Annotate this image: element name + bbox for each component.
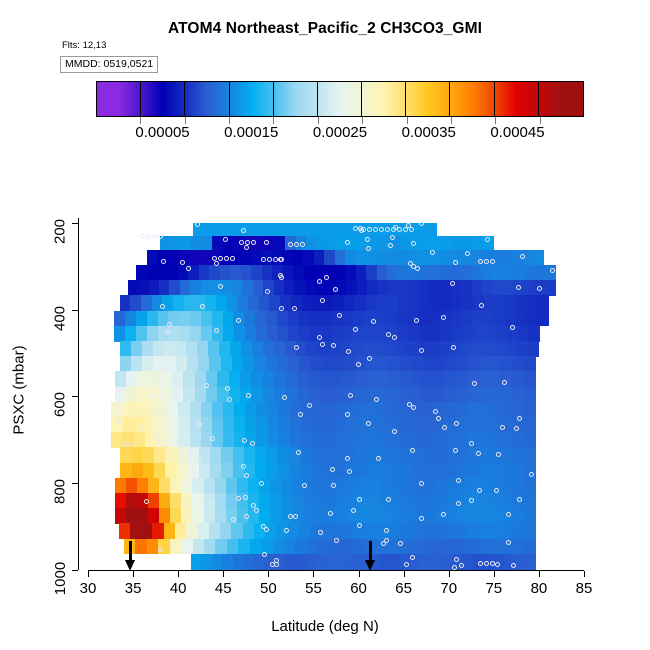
observation-point <box>433 409 438 414</box>
colorbar-tick-label: 0.00035 <box>402 124 456 141</box>
observation-point <box>300 242 305 247</box>
observation-point <box>398 541 403 546</box>
colorbar-tick-label: 0.00015 <box>224 124 278 141</box>
observation-point <box>451 345 456 350</box>
observation-point <box>346 349 351 354</box>
observation-point <box>469 498 474 503</box>
x-axis-tick-label: 55 <box>305 580 322 597</box>
observation-point <box>239 240 244 245</box>
observation-point <box>511 563 516 568</box>
observation-point <box>131 442 136 447</box>
observation-point <box>236 496 241 501</box>
observation-point <box>124 442 129 447</box>
observation-point <box>453 448 458 453</box>
observation-point <box>414 318 419 323</box>
x-axis-tick-label: 40 <box>170 580 187 597</box>
colorbar-segment <box>539 82 583 116</box>
observation-point <box>242 438 247 443</box>
observation-point <box>374 397 379 402</box>
observation-point <box>490 561 495 566</box>
observation-point <box>391 227 396 232</box>
colorbar-segment <box>274 82 318 116</box>
observation-point <box>292 306 297 311</box>
observation-point <box>333 287 338 292</box>
observation-point <box>388 243 393 248</box>
observation-point <box>456 478 461 483</box>
observation-point <box>353 327 358 332</box>
observation-point <box>410 448 415 453</box>
colorbar-segment <box>185 82 229 116</box>
observation-point <box>476 451 481 456</box>
observation-point <box>218 256 223 261</box>
observation-point <box>244 473 249 478</box>
observation-point <box>516 285 521 290</box>
observation-point <box>345 456 350 461</box>
observation-point <box>210 436 215 441</box>
observation-point <box>454 421 459 426</box>
observation-point <box>411 241 416 246</box>
y-axis-tick-label: 400 <box>52 305 69 330</box>
observation-point <box>330 467 335 472</box>
colorbar-segment <box>406 82 450 116</box>
observation-point <box>367 356 372 361</box>
observation-point <box>197 457 202 462</box>
x-axis-tick-label: 65 <box>395 580 412 597</box>
y-axis-tick-label: 600 <box>52 392 69 417</box>
observation-point <box>331 483 336 488</box>
observation-point <box>273 257 278 262</box>
observation-point <box>385 227 390 232</box>
colorbar-gradient <box>96 81 584 117</box>
x-axis-tick-label: 30 <box>80 580 97 597</box>
observation-point <box>328 511 333 516</box>
observation-point <box>146 234 151 239</box>
observation-point <box>161 259 166 264</box>
colorbar-tick <box>362 117 363 124</box>
y-axis-tick-label: 200 <box>52 219 69 244</box>
observation-point <box>397 227 402 232</box>
observation-point <box>158 547 163 552</box>
observation-point <box>294 345 299 350</box>
colorbar-tick <box>318 117 319 124</box>
observation-point <box>345 240 350 245</box>
observation-point <box>441 315 446 320</box>
x-axis-tick-label: 60 <box>350 580 367 597</box>
observation-point <box>227 397 232 402</box>
observation-point <box>317 279 322 284</box>
x-axis-tick <box>494 571 495 577</box>
observation-point <box>517 497 522 502</box>
observation-point <box>236 318 241 323</box>
observation-point <box>450 281 455 286</box>
colorbar-segment <box>318 82 362 116</box>
x-axis-tick <box>313 571 314 577</box>
colorbar-tick <box>273 117 274 124</box>
observation-point <box>366 246 371 251</box>
observation-point <box>324 275 329 280</box>
observation-point <box>410 555 415 560</box>
observation-point <box>214 328 219 333</box>
colorbar-segment <box>362 82 406 116</box>
observation-point <box>284 528 289 533</box>
observation-point <box>550 268 555 273</box>
heatmap-plot-area <box>88 214 584 570</box>
observation-point <box>200 304 205 309</box>
page-title: ATOM4 Northeast_Pacific_2 CH3CO3_GMI <box>0 20 650 38</box>
observation-point <box>366 421 371 426</box>
observation-point <box>506 540 511 545</box>
observation-point <box>244 514 249 519</box>
observation-point <box>241 228 246 233</box>
y-axis-tick-label: 1000 <box>52 562 69 595</box>
x-axis-tick <box>88 571 89 577</box>
observation-point <box>371 319 376 324</box>
observation-point <box>357 497 362 502</box>
observation-point <box>392 429 397 434</box>
observation-point <box>317 335 322 340</box>
observation-point <box>293 514 298 519</box>
observation-point <box>150 394 155 399</box>
x-axis-tick <box>133 571 134 577</box>
observation-point <box>500 425 505 430</box>
observation-point <box>337 313 342 318</box>
y-axis-title-text: PSXC (mbar) <box>11 345 28 434</box>
x-axis-tick <box>539 571 540 577</box>
observation-point <box>195 222 200 227</box>
observation-point <box>430 250 435 255</box>
observation-point <box>357 523 362 528</box>
colorbar-segment <box>495 82 539 116</box>
observation-point <box>251 240 256 245</box>
observation-point <box>250 441 255 446</box>
observation-point <box>381 541 386 546</box>
observation-point <box>245 240 250 245</box>
observation-point <box>419 348 424 353</box>
observation-point <box>296 450 301 455</box>
observation-point <box>478 561 483 566</box>
x-axis-tick <box>449 571 450 577</box>
observation-point <box>223 237 228 242</box>
observation-point <box>197 422 202 427</box>
observation-point <box>144 499 149 504</box>
x-axis-title: Latitude (deg N) <box>0 618 650 635</box>
observation-points <box>88 214 584 570</box>
observation-point <box>484 259 489 264</box>
colorbar <box>96 81 584 117</box>
colorbar-tick <box>229 117 230 124</box>
x-axis-tick <box>404 571 405 577</box>
colorbar-tick <box>495 117 496 124</box>
x-axis-line <box>88 570 584 571</box>
x-axis-tick-label: 80 <box>531 580 548 597</box>
observation-point <box>320 342 325 347</box>
observation-point <box>244 245 249 250</box>
observation-point <box>267 257 272 262</box>
observation-point <box>494 488 499 493</box>
colorbar-segment <box>141 82 185 116</box>
observation-point <box>490 259 495 264</box>
observation-point <box>302 483 307 488</box>
observation-point <box>514 426 519 431</box>
observation-point <box>479 303 484 308</box>
observation-point <box>116 419 121 424</box>
observation-point <box>270 562 275 567</box>
observation-point <box>167 322 172 327</box>
observation-point <box>318 530 323 535</box>
observation-point <box>453 260 458 265</box>
colorbar-segment <box>97 82 141 116</box>
observation-point <box>243 495 248 500</box>
observation-point <box>254 508 259 513</box>
observation-point <box>153 434 158 439</box>
observation-point <box>173 394 178 399</box>
x-axis-tick <box>178 571 179 577</box>
x-axis-tick-label: 85 <box>576 580 593 597</box>
observation-point <box>307 403 312 408</box>
colorbar-tick <box>540 117 541 124</box>
latitude-arrow-marker <box>125 541 136 571</box>
observation-point <box>496 452 501 457</box>
observation-point <box>331 343 336 348</box>
observation-point <box>116 387 121 392</box>
observation-point <box>279 306 284 311</box>
observation-point <box>520 254 525 259</box>
observation-point <box>282 395 287 400</box>
mmdd-annotation: MMDD: 0519,0521 <box>60 56 158 73</box>
y-axis-tick-label: 800 <box>52 479 69 504</box>
observation-point <box>345 412 350 417</box>
observation-point <box>265 289 270 294</box>
observation-point <box>472 381 477 386</box>
arrow-head <box>365 560 375 571</box>
observation-point <box>140 234 145 239</box>
y-axis-title: PSXC (mbar) <box>8 0 30 650</box>
colorbar-segment <box>230 82 274 116</box>
observation-point <box>376 456 381 461</box>
observation-point <box>178 359 183 364</box>
observation-point <box>441 512 446 517</box>
colorbar-tick <box>451 117 452 124</box>
colorbar-segment <box>450 82 494 116</box>
observation-point <box>231 517 236 522</box>
x-axis-tick-label: 50 <box>260 580 277 597</box>
colorbar-tick-label: 0.00045 <box>490 124 544 141</box>
colorbar-tick-labels: 0.000050.000150.000250.000350.00045 <box>0 124 650 142</box>
observation-point <box>506 512 511 517</box>
observation-point <box>537 286 542 291</box>
observation-point <box>456 501 461 506</box>
observation-point <box>478 259 483 264</box>
observation-point <box>465 251 470 256</box>
x-axis-tick <box>584 571 585 577</box>
observation-point <box>419 221 424 226</box>
y-axis-tick <box>72 396 78 397</box>
observation-point <box>459 563 464 568</box>
observation-point <box>373 227 378 232</box>
observation-point <box>404 562 409 567</box>
observation-point <box>403 227 408 232</box>
observation-point <box>261 257 266 262</box>
x-axis-tick <box>268 571 269 577</box>
observation-point <box>294 242 299 247</box>
observation-point <box>246 393 251 398</box>
observation-point <box>218 284 223 289</box>
observation-point <box>157 436 162 441</box>
observation-point <box>419 516 424 521</box>
observation-point <box>495 562 500 567</box>
observation-point <box>411 405 416 410</box>
observation-point <box>386 497 391 502</box>
colorbar-tick-label: 0.00005 <box>135 124 189 141</box>
colorbar-tick <box>185 117 186 124</box>
observation-point <box>485 237 490 242</box>
observation-point <box>262 552 267 557</box>
observation-point <box>409 227 414 232</box>
observation-point <box>452 565 457 570</box>
x-axis-tick-label: 35 <box>125 580 142 597</box>
observation-point <box>529 472 534 477</box>
x-axis-tick-label: 70 <box>440 580 457 597</box>
observation-point <box>230 256 235 261</box>
observation-point <box>334 538 339 543</box>
observation-point <box>517 416 522 421</box>
observation-point <box>392 335 397 340</box>
observation-point <box>264 240 269 245</box>
observation-point <box>298 412 303 417</box>
observation-point <box>419 481 424 486</box>
observation-point <box>152 234 157 239</box>
observation-point <box>442 425 447 430</box>
observation-point <box>225 386 230 391</box>
observation-point <box>390 235 395 240</box>
x-axis-tick-label: 45 <box>215 580 232 597</box>
observation-point <box>484 561 489 566</box>
observation-point <box>241 464 246 469</box>
colorbar-tick <box>140 117 141 124</box>
y-axis-tick <box>72 223 78 224</box>
colorbar-tick-label: 0.00025 <box>313 124 367 141</box>
observation-point <box>477 488 482 493</box>
observation-point <box>279 275 284 280</box>
observation-point <box>348 393 353 398</box>
arrow-head <box>125 560 135 571</box>
y-axis-tick <box>72 310 78 311</box>
observation-point <box>181 365 186 370</box>
observation-point <box>367 227 372 232</box>
observation-point <box>356 362 361 367</box>
observation-point <box>180 260 185 265</box>
y-axis-tick <box>72 570 78 571</box>
x-axis-tick <box>223 571 224 577</box>
y-axis-line <box>78 218 79 570</box>
colorbar-tick <box>407 117 408 124</box>
x-axis-tick <box>359 571 360 577</box>
observation-point <box>454 557 459 562</box>
colorbar-ticks <box>96 117 584 124</box>
observation-point <box>204 383 209 388</box>
observation-point <box>411 264 416 269</box>
observation-point <box>214 261 219 266</box>
observation-point <box>365 237 370 242</box>
observation-point <box>224 256 229 261</box>
observation-point <box>320 298 325 303</box>
observation-point <box>436 416 441 421</box>
observation-point <box>351 508 356 513</box>
y-axis-tick <box>72 483 78 484</box>
observation-point <box>469 441 474 446</box>
observation-point <box>139 426 144 431</box>
observation-point <box>279 257 284 262</box>
observation-point <box>158 234 163 239</box>
observation-point <box>209 500 214 505</box>
x-axis-tick-label: 75 <box>485 580 502 597</box>
observation-point <box>347 469 352 474</box>
observation-point <box>510 325 515 330</box>
observation-point <box>361 227 366 232</box>
observation-point <box>379 227 384 232</box>
observation-point <box>386 332 391 337</box>
observation-point <box>384 528 389 533</box>
observation-point <box>502 380 507 385</box>
latitude-arrow-marker <box>365 541 376 571</box>
observation-point <box>288 242 293 247</box>
flights-annotation: Flts: 12,13 <box>62 40 106 51</box>
observation-point <box>160 304 165 309</box>
observation-point <box>186 266 191 271</box>
observation-point <box>259 481 264 486</box>
observation-point <box>212 256 217 261</box>
observation-point <box>165 330 170 335</box>
